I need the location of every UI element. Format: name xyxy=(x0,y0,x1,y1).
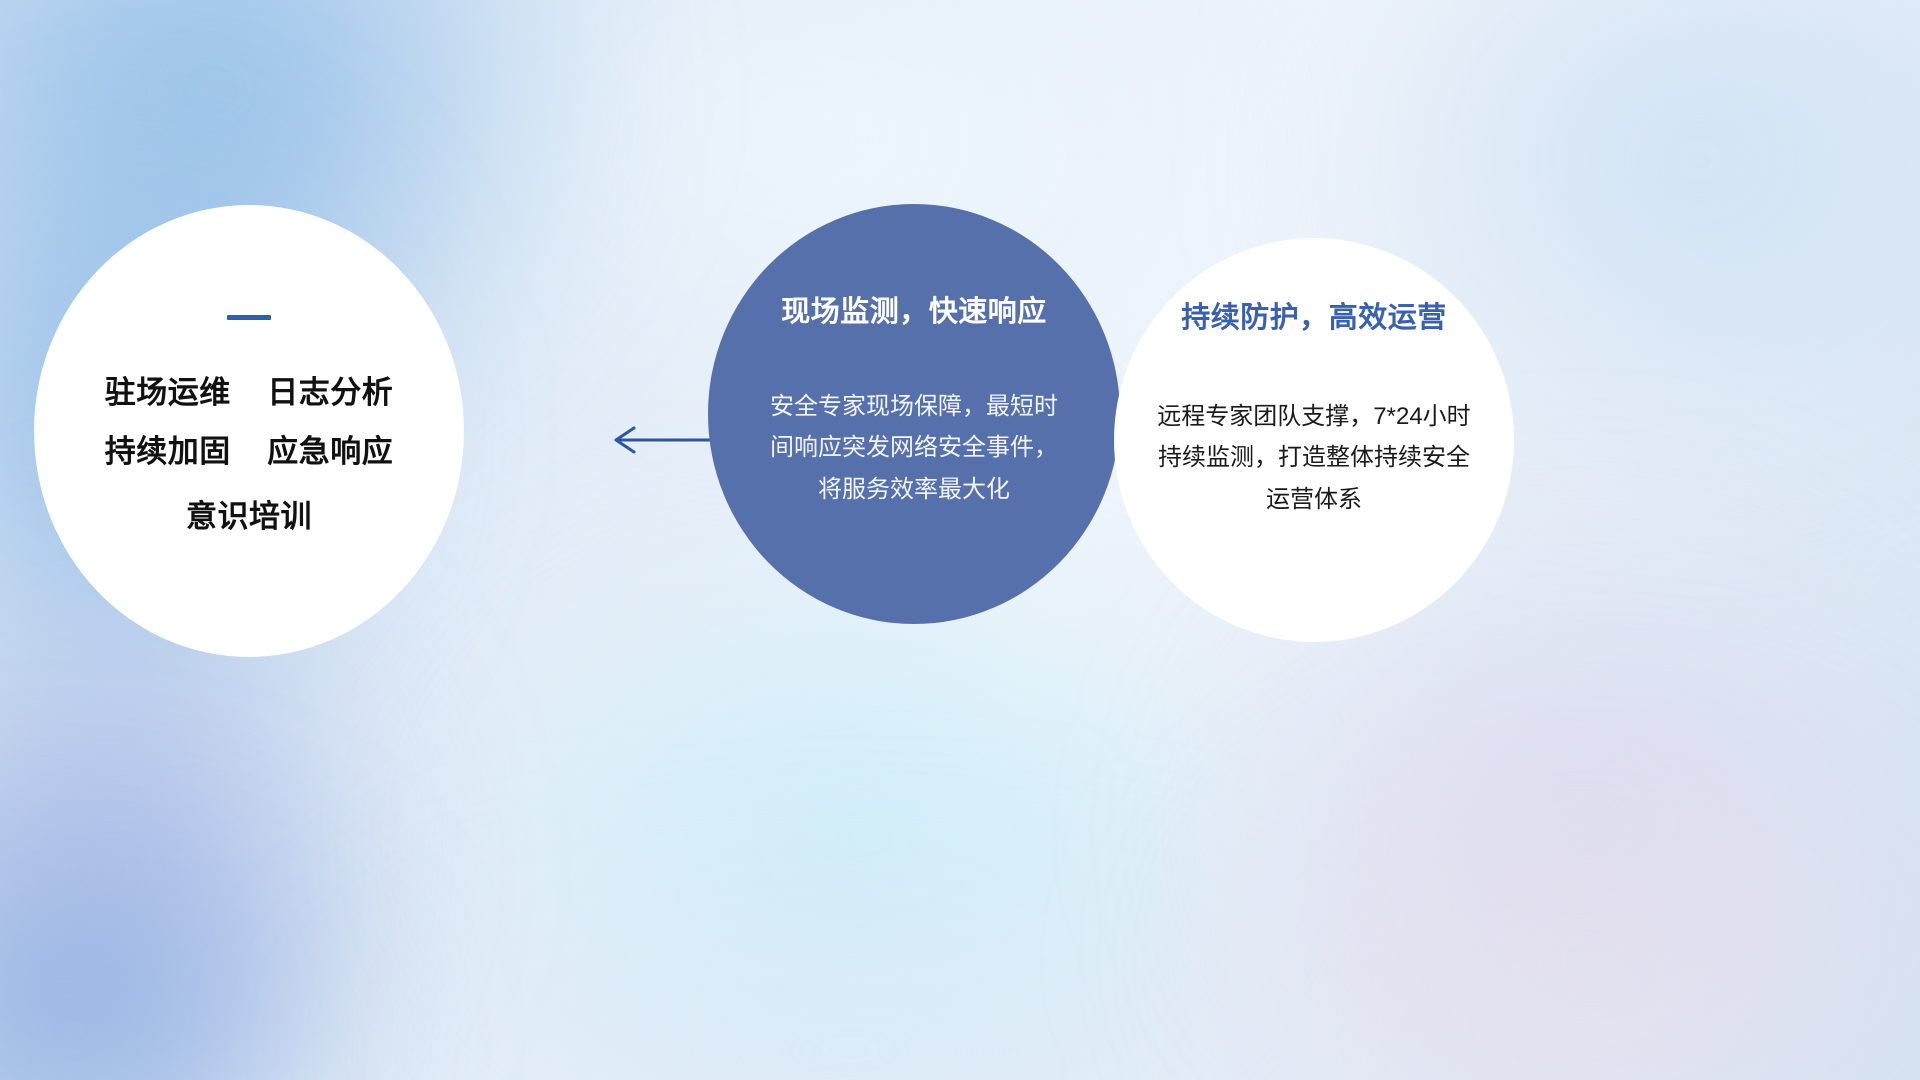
capability-line-2: 持续加固 应急响应 xyxy=(105,423,393,482)
capabilities-list: 驻场运维 日志分析 持续加固 应急响应 意识培训 xyxy=(105,364,393,547)
onsite-monitoring-body: 安全专家现场保障，最短时间响应突发网络安全事件，将服务效率最大化 xyxy=(764,386,1064,510)
continuous-protection-body: 远程专家团队支撑，7*24小时持续监测，打造整体持续安全运营体系 xyxy=(1149,396,1479,520)
slide-canvas: 驻场运维 日志分析 持续加固 应急响应 意识培训 现场监测，快速响应 安全专家现… xyxy=(0,0,1920,1080)
continuous-protection-circle: 持续防护，高效运营 远程专家团队支撑，7*24小时持续监测，打造整体持续安全运营… xyxy=(1114,238,1514,642)
capabilities-circle: 驻场运维 日志分析 持续加固 应急响应 意识培训 xyxy=(34,205,464,657)
onsite-monitoring-title: 现场监测，快速响应 xyxy=(781,288,1047,330)
background-blob-bottom-right xyxy=(1180,700,1920,1080)
background-blob-center-cyan xyxy=(420,560,1320,1080)
horizontal-dash-icon xyxy=(227,315,271,320)
capability-line-3: 意识培训 xyxy=(105,488,393,547)
continuous-protection-title: 持续防护，高效运营 xyxy=(1181,294,1447,336)
background-blob-bottom-left xyxy=(0,820,380,1080)
onsite-monitoring-circle: 现场监测，快速响应 安全专家现场保障，最短时间响应突发网络安全事件，将服务效率最… xyxy=(708,204,1120,624)
background-blob-bottom-band xyxy=(300,880,1400,1080)
capability-line-1: 驻场运维 日志分析 xyxy=(105,364,393,423)
